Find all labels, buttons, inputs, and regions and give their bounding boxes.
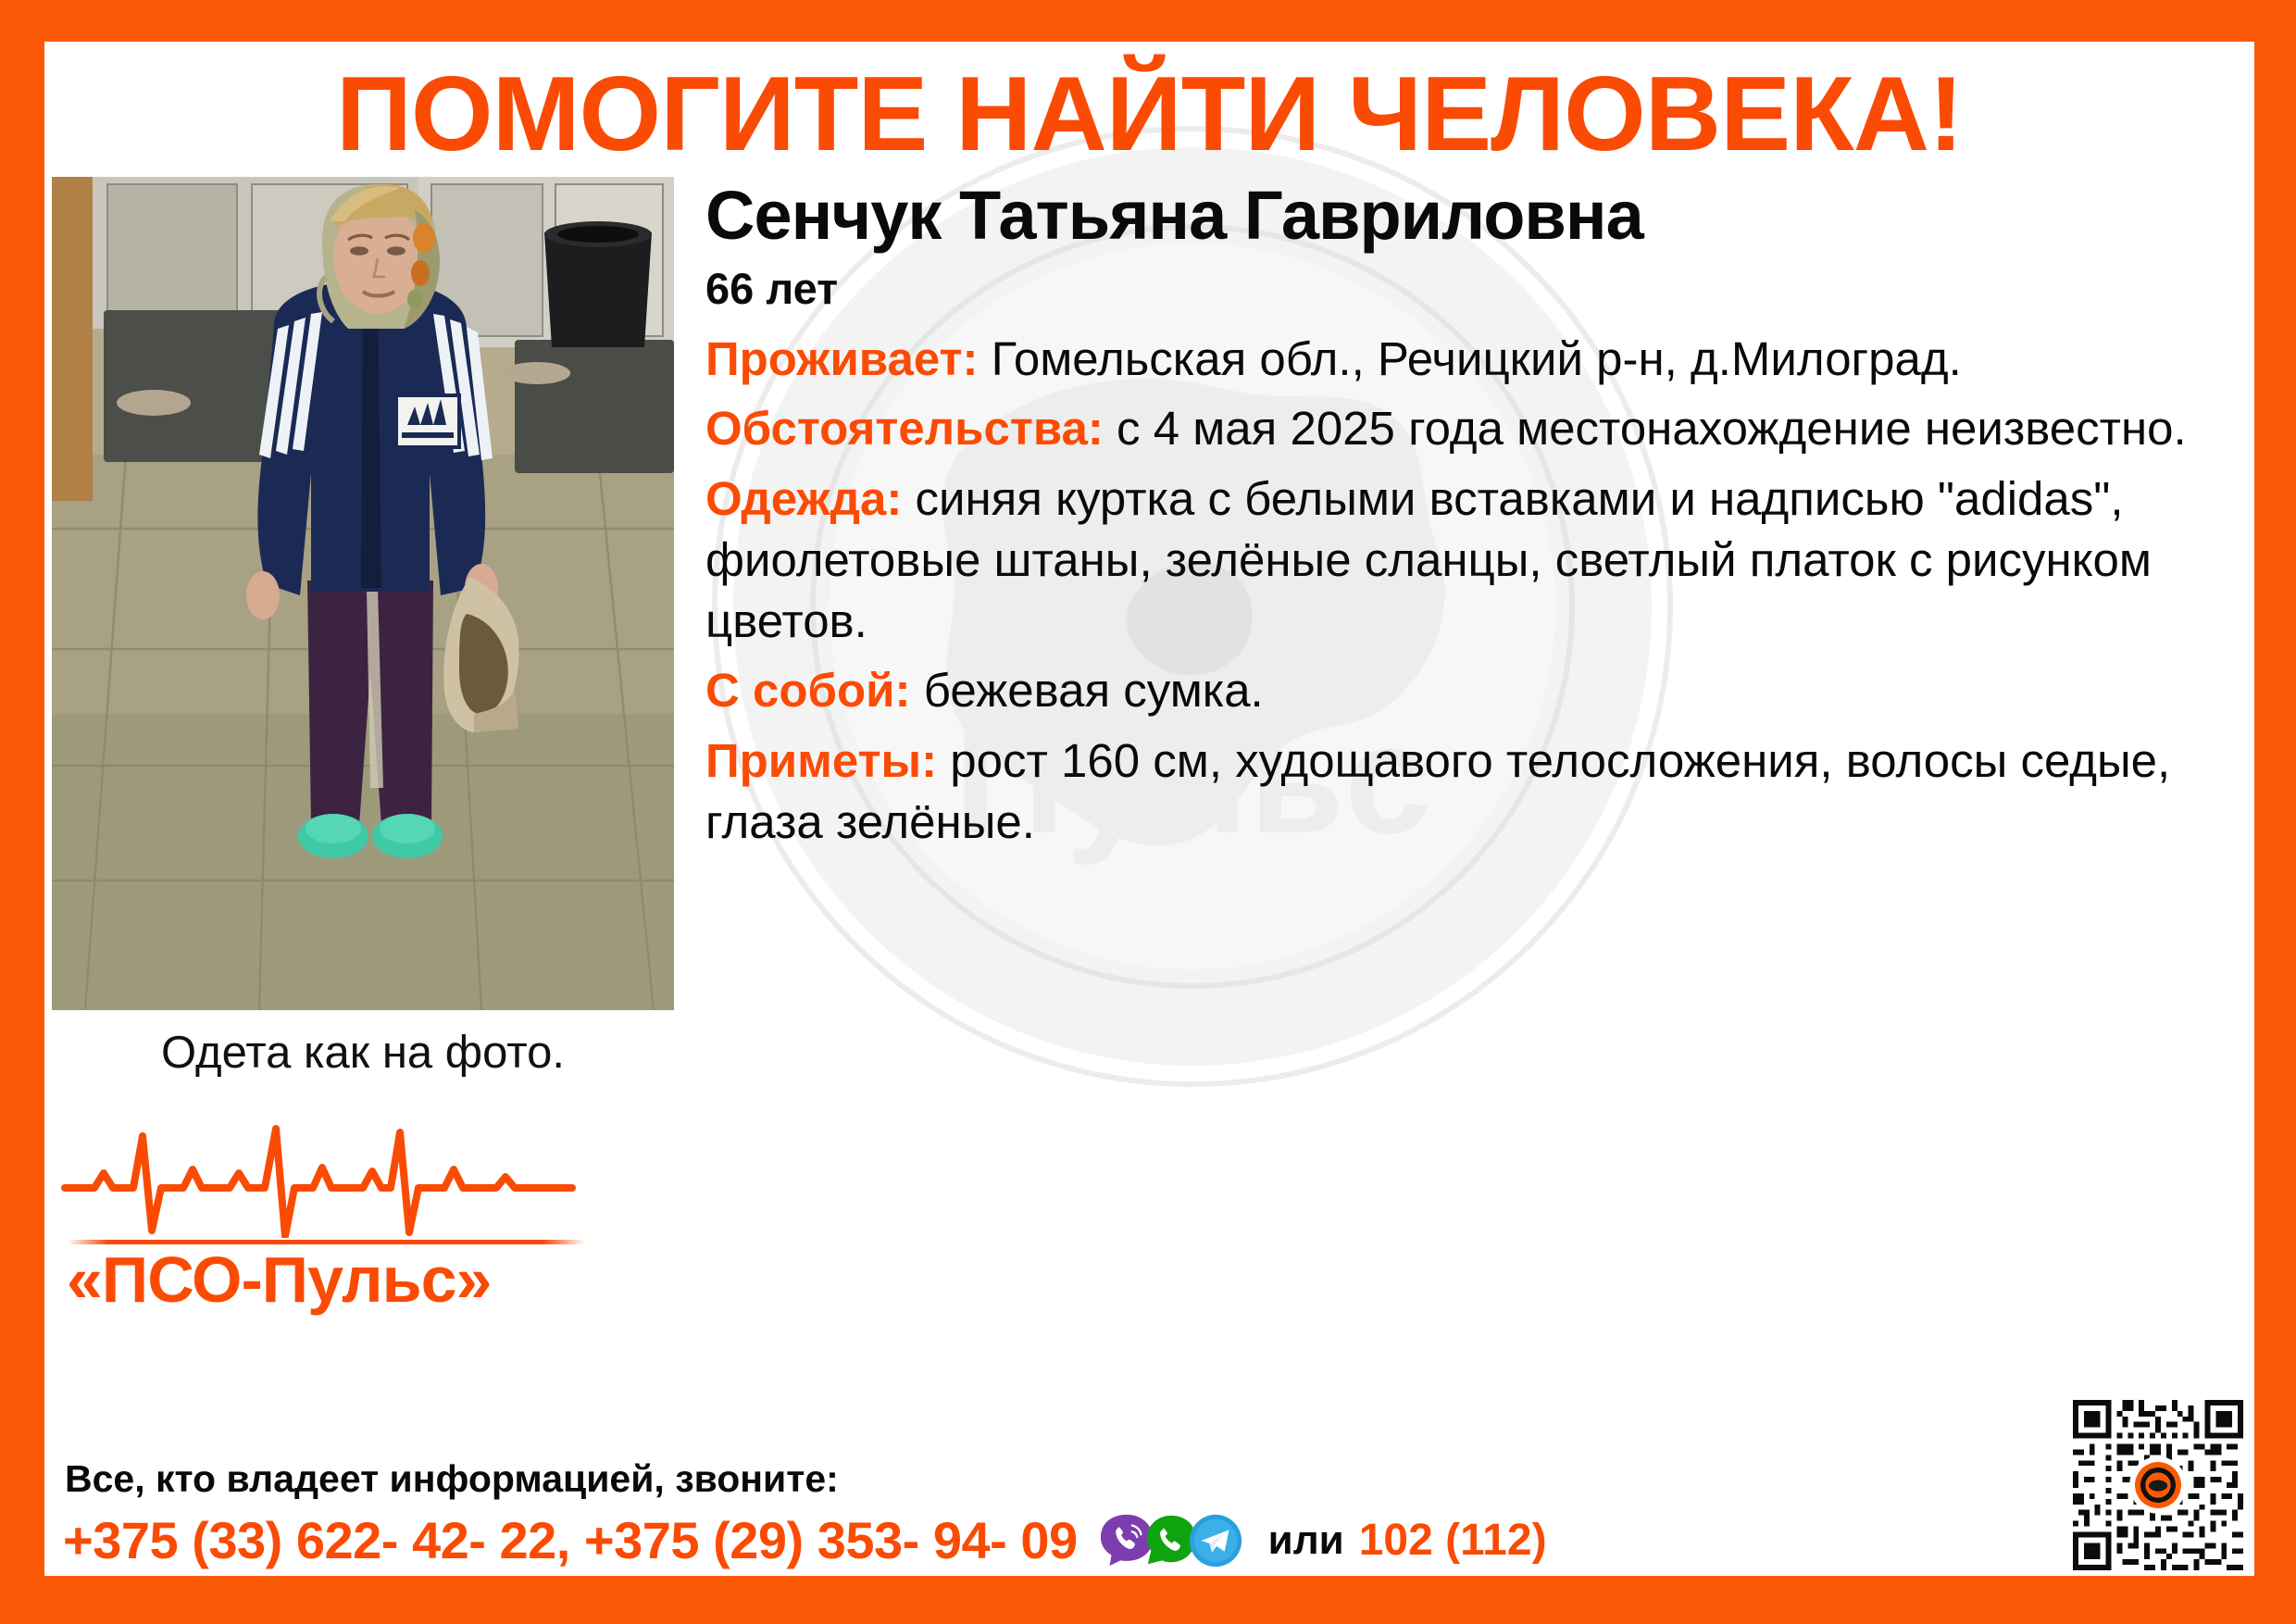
detail-circumstances-label: Обстоятельства: <box>705 402 1104 455</box>
right-column: Сенчук Татьяна Гавриловна 66 лет Прожива… <box>693 177 2254 861</box>
detail-residence-label: Проживает: <box>705 332 979 385</box>
missing-person-poster: ПОИСКОВО-СПАСАТЕЛЬНЫЙ ОТРЯД PULSE.ORG • … <box>0 0 2296 1624</box>
detail-residence-value: Гомельская обл., Речицкий р-н, д.Милогра… <box>992 332 1962 385</box>
ecg-pulse-icon <box>61 1116 589 1238</box>
call-to-action-text: Все, кто владеет информацией, звоните: <box>57 1457 2241 1501</box>
detail-circumstances: Обстоятельства: с 4 мая 2025 года местон… <box>705 398 2236 468</box>
emergency-number[interactable]: 102 (112) <box>1359 1515 1547 1566</box>
qr-code-icon[interactable] <box>2067 1394 2249 1576</box>
detail-residence: Проживает: Гомельская обл., Речицкий р-н… <box>705 329 2236 398</box>
poster-body: Одета как на фото. «ПСО-Пульс» Сенчук Та… <box>44 177 2254 1315</box>
phone-numbers[interactable]: +375 (33) 622- 42- 22, +375 (29) 353- 94… <box>63 1510 1078 1570</box>
organization-logo: «ПСО-Пульс» <box>52 1079 674 1315</box>
left-column: Одета как на фото. «ПСО-Пульс» <box>44 177 693 1315</box>
detail-clothing-value: синяя куртка с белыми вставками и надпис… <box>705 472 2152 648</box>
detail-clothing: Одежда: синяя куртка с белыми вставками … <box>705 468 2236 661</box>
detail-circumstances-value: с 4 мая 2025 года местонахождение неизве… <box>1117 402 2187 455</box>
person-name: Сенчук Татьяна Гавриловна <box>705 181 2236 252</box>
messenger-icons <box>1098 1512 1244 1569</box>
poster-sheet: ПОИСКОВО-СПАСАТЕЛЬНЫЙ ОТРЯД PULSE.ORG • … <box>44 42 2254 1576</box>
page-title: ПОМОГИТЕ НАЙТИ ЧЕЛОВЕКА! <box>44 42 2254 177</box>
poster-footer: Все, кто владеет информацией, звоните: +… <box>57 1457 2241 1570</box>
telegram-icon[interactable] <box>1187 1512 1244 1569</box>
detail-belongings-value: бежевая сумка. <box>924 664 1264 717</box>
contact-row: +375 (33) 622- 42- 22, +375 (29) 353- 94… <box>57 1501 2241 1570</box>
detail-belongings-label: С собой: <box>705 664 911 717</box>
person-age: 66 лет <box>705 252 2236 329</box>
detail-clothing-label: Одежда: <box>705 472 902 525</box>
or-label: или <box>1268 1518 1344 1564</box>
detail-description: Приметы: рост 160 см, худощавого телосло… <box>705 731 2236 862</box>
detail-belongings: С собой: бежевая сумка. <box>705 660 2236 730</box>
detail-description-label: Приметы: <box>705 734 937 787</box>
organization-name: «ПСО-Пульс» <box>61 1246 674 1315</box>
photo-caption: Одета как на фото. <box>52 1010 674 1079</box>
missing-person-photo <box>52 177 674 1010</box>
